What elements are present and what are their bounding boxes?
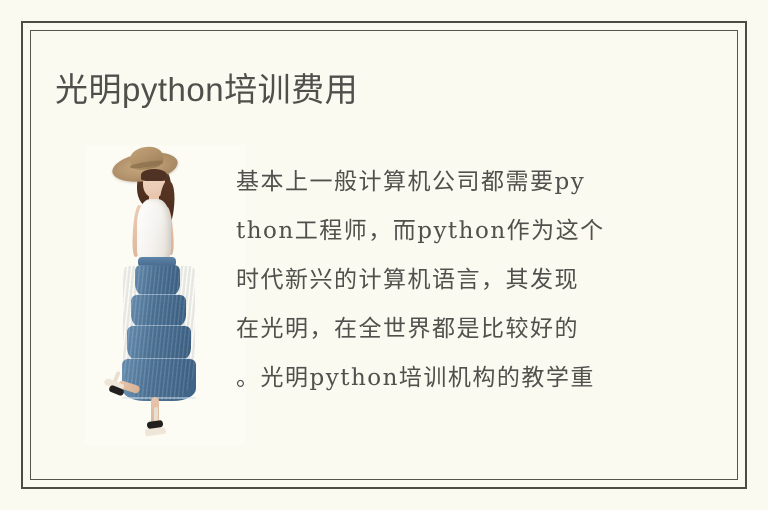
article-line: 在光明，在全世界都是比较好的 [236,305,654,354]
denim-skirt-tier-3 [127,326,191,362]
page-title: 光明python培训费用 [55,68,358,112]
denim-skirt-tier-1 [135,265,180,298]
page-canvas: 光明python培训费用 [0,0,768,510]
article-body: 基本上一般计算机公司都需要py thon工程师，而python作为这个 时代新兴… [40,140,730,450]
hair-fringe-shape [141,169,167,181]
denim-skirt-tier-4 [122,359,196,401]
article-line: 时代新兴的计算机语言，其发现 [236,256,654,305]
article-photo [85,145,245,445]
article-line: thon工程师，而python作为这个 [236,207,654,256]
model-illustration [85,145,245,445]
article-line: 基本上一般计算机公司都需要py [236,158,654,207]
article-line: 。光明python培训机构的教学重 [236,354,654,403]
white-tank-top [137,199,171,261]
article-paragraph: 基本上一般计算机公司都需要py thon工程师，而python作为这个 时代新兴… [236,158,654,403]
denim-skirt-tier-2 [131,295,186,329]
